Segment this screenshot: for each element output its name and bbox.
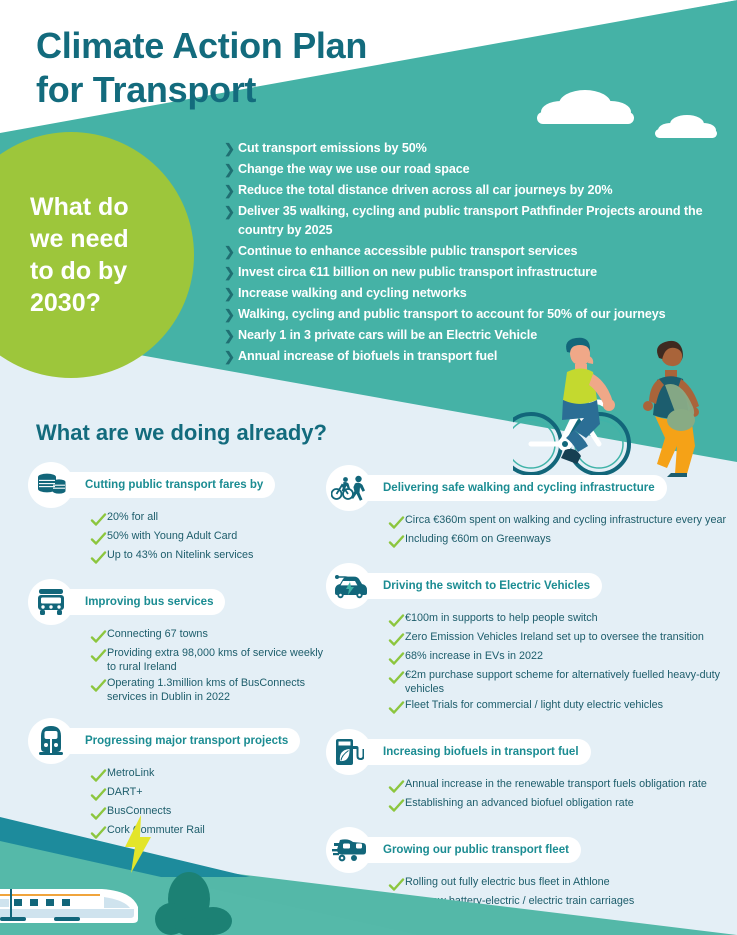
goal-item-label: Invest circa €11 billion on new public t… (238, 263, 597, 282)
chevron-right-icon: ❯ (224, 202, 238, 221)
list-item: Connecting 67 towns (90, 628, 328, 644)
card-header: Driving the switch to Electric Vehicles (326, 563, 731, 609)
list-item: Zero Emission Vehicles Ireland set up to… (388, 631, 731, 647)
list-item: Establishing an advanced biofuel obligat… (388, 797, 731, 813)
goal-item: ❯Walking, cycling and public transport t… (224, 305, 724, 324)
card-body: Connecting 67 townsProviding extra 98,00… (90, 628, 328, 704)
goal-item-label: Reduce the total distance driven across … (238, 181, 612, 200)
list-item: €100m in supports to help people switch (388, 612, 731, 628)
card-header: Growing our public transport fleet (326, 827, 731, 873)
list-item: Annual increase in the renewable transpo… (388, 778, 731, 794)
list-item-label: 50% with Young Adult Card (107, 530, 237, 544)
goal-item: ❯Change the way we use our road space (224, 160, 724, 179)
card-header: Increasing biofuels in transport fuel (326, 729, 731, 775)
goal-item-label: Deliver 35 walking, cycling and public t… (238, 202, 724, 240)
list-item: DART+ (90, 786, 328, 802)
page-title: Climate Action Plan for Transport (36, 24, 367, 112)
check-icon (90, 551, 107, 565)
cyclist-walker-icon (326, 465, 372, 511)
coins-icon (28, 462, 74, 508)
card-body: €100m in supports to help people switchZ… (388, 612, 731, 715)
list-item-label: Connecting 67 towns (107, 628, 208, 642)
card-title: Growing our public transport fleet (349, 837, 581, 863)
list-item: 20% for all (90, 511, 328, 527)
train-front-icon (28, 718, 74, 764)
cyclist-illustration (513, 338, 629, 474)
card-body: Circa €360m spent on walking and cycling… (388, 514, 731, 549)
list-item: 68% increase in EVs in 2022 (388, 650, 731, 666)
list-item-label: Including €60m on Greenways (405, 533, 551, 547)
card-body: 20% for all50% with Young Adult CardUp t… (90, 511, 328, 565)
card-header: Progressing major transport projects (28, 718, 328, 764)
list-item: €2m purchase support scheme for alternat… (388, 669, 731, 696)
info-card: Delivering safe walking and cycling infr… (326, 465, 731, 549)
goal-item: ❯Invest circa €11 billion on new public … (224, 263, 724, 282)
cloud-icon-small (645, 113, 725, 141)
train-fleet-icon (326, 827, 372, 873)
card-body: Annual increase in the renewable transpo… (388, 778, 731, 813)
goal-item: ❯Cut transport emissions by 50% (224, 139, 724, 158)
list-item-label: €2m purchase support scheme for alternat… (405, 669, 731, 696)
info-card: Cutting public transport fares by20% for… (28, 462, 328, 565)
info-card: Increasing biofuels in transport fuelAnn… (326, 729, 731, 813)
callout-text: What do we need to do by 2030? (30, 191, 129, 319)
chevron-right-icon: ❯ (224, 263, 238, 282)
check-icon (90, 513, 107, 527)
check-icon (388, 516, 405, 530)
list-item: Providing extra 98,000 kms of service we… (90, 647, 328, 674)
list-item: MetroLink (90, 767, 328, 783)
goal-item: ❯Reduce the total distance driven across… (224, 181, 724, 200)
goal-item: ❯Deliver 35 walking, cycling and public … (224, 202, 724, 240)
electric-car-icon (326, 563, 372, 609)
chevron-right-icon: ❯ (224, 284, 238, 303)
card-header: Improving bus services (28, 579, 328, 625)
cloud-icon-large (523, 88, 648, 128)
chevron-right-icon: ❯ (224, 305, 238, 324)
check-icon (388, 633, 405, 647)
check-icon (388, 671, 405, 685)
chevron-right-icon: ❯ (224, 160, 238, 179)
card-header: Delivering safe walking and cycling infr… (326, 465, 731, 511)
card-title: Driving the switch to Electric Vehicles (349, 573, 602, 599)
pedestrian-illustration (643, 341, 699, 477)
card-title: Progressing major transport projects (51, 728, 300, 754)
goal-item-label: Continue to enhance accessible public tr… (238, 242, 577, 261)
fuel-pump-leaf-icon (326, 729, 372, 775)
chevron-right-icon: ❯ (224, 326, 238, 345)
list-item-label: Zero Emission Vehicles Ireland set up to… (405, 631, 704, 645)
card-title: Improving bus services (51, 589, 225, 615)
card-title: Delivering safe walking and cycling infr… (349, 475, 667, 501)
card-title: Increasing biofuels in transport fuel (349, 739, 591, 765)
list-item-label: €100m in supports to help people switch (405, 612, 598, 626)
check-icon (388, 878, 405, 892)
list-item-label: 20% for all (107, 511, 158, 525)
check-icon (90, 826, 107, 840)
goal-item-label: Cut transport emissions by 50% (238, 139, 427, 158)
check-icon (90, 679, 107, 693)
check-icon (90, 769, 107, 783)
list-item: Including €60m on Greenways (388, 533, 731, 549)
goal-item-label: Annual increase of biofuels in transport… (238, 347, 497, 366)
bush-icon (155, 869, 235, 935)
list-item-label: Operating 1.3million kms of BusConnects … (107, 677, 328, 704)
goal-item-label: Nearly 1 in 3 private cars will be an El… (238, 326, 537, 345)
info-card: Progressing major transport projectsMetr… (28, 718, 328, 840)
chevron-right-icon: ❯ (224, 181, 238, 200)
list-item: Fleet Trials for commercial / light duty… (388, 699, 731, 715)
chevron-right-icon: ❯ (224, 139, 238, 158)
info-card: Improving bus servicesConnecting 67 town… (28, 579, 328, 704)
check-icon (90, 788, 107, 802)
list-item: Circa €360m spent on walking and cycling… (388, 514, 731, 530)
check-icon (388, 701, 405, 715)
list-item-label: Establishing an advanced biofuel obligat… (405, 797, 634, 811)
list-item: Rolling out fully electric bus fleet in … (388, 876, 731, 892)
chevron-right-icon: ❯ (224, 347, 238, 366)
check-icon (388, 799, 405, 813)
goal-item-label: Walking, cycling and public transport to… (238, 305, 666, 324)
card-header: Cutting public transport fares by (28, 462, 328, 508)
people-illustration (513, 332, 737, 477)
list-item-label: Up to 43% on Nitelink services (107, 549, 253, 563)
check-icon (388, 535, 405, 549)
list-item-label: DART+ (107, 786, 143, 800)
check-icon (388, 780, 405, 794)
list-item-label: Annual increase in the renewable transpo… (405, 778, 707, 792)
list-item-label: 68% increase in EVs in 2022 (405, 650, 543, 664)
list-item-label: Rolling out fully electric bus fleet in … (405, 876, 610, 890)
goal-item-label: Increase walking and cycling networks (238, 284, 467, 303)
check-icon (388, 652, 405, 666)
list-item-label: MetroLink (107, 767, 154, 781)
check-icon (90, 630, 107, 644)
card-title: Cutting public transport fares by (51, 472, 275, 498)
list-item-label: Fleet Trials for commercial / light duty… (405, 699, 663, 713)
list-item: 50% with Young Adult Card (90, 530, 328, 546)
bus-icon (28, 579, 74, 625)
check-icon (90, 649, 107, 663)
check-icon (90, 532, 107, 546)
section-heading: What are we doing already? (36, 420, 327, 446)
list-item: Operating 1.3million kms of BusConnects … (90, 677, 328, 704)
check-icon (388, 614, 405, 628)
list-item-label: Providing extra 98,000 kms of service we… (107, 647, 328, 674)
right-card-column: Delivering safe walking and cycling infr… (326, 465, 731, 935)
list-item: Up to 43% on Nitelink services (90, 549, 328, 565)
goal-item-label: Change the way we use our road space (238, 160, 470, 179)
goal-item: ❯Continue to enhance accessible public t… (224, 242, 724, 261)
info-card: Driving the switch to Electric Vehicles€… (326, 563, 731, 715)
chevron-right-icon: ❯ (224, 242, 238, 261)
check-icon (90, 807, 107, 821)
train-illustration (0, 883, 139, 923)
lightning-bolt-icon (123, 815, 153, 873)
list-item-label: Circa €360m spent on walking and cycling… (405, 514, 726, 528)
left-card-column: Cutting public transport fares by20% for… (28, 462, 328, 854)
goal-item: ❯Increase walking and cycling networks (224, 284, 724, 303)
infographic-page: Climate Action Plan for Transport What d… (0, 0, 737, 935)
list-item-label: Cork Commuter Rail (107, 824, 205, 838)
